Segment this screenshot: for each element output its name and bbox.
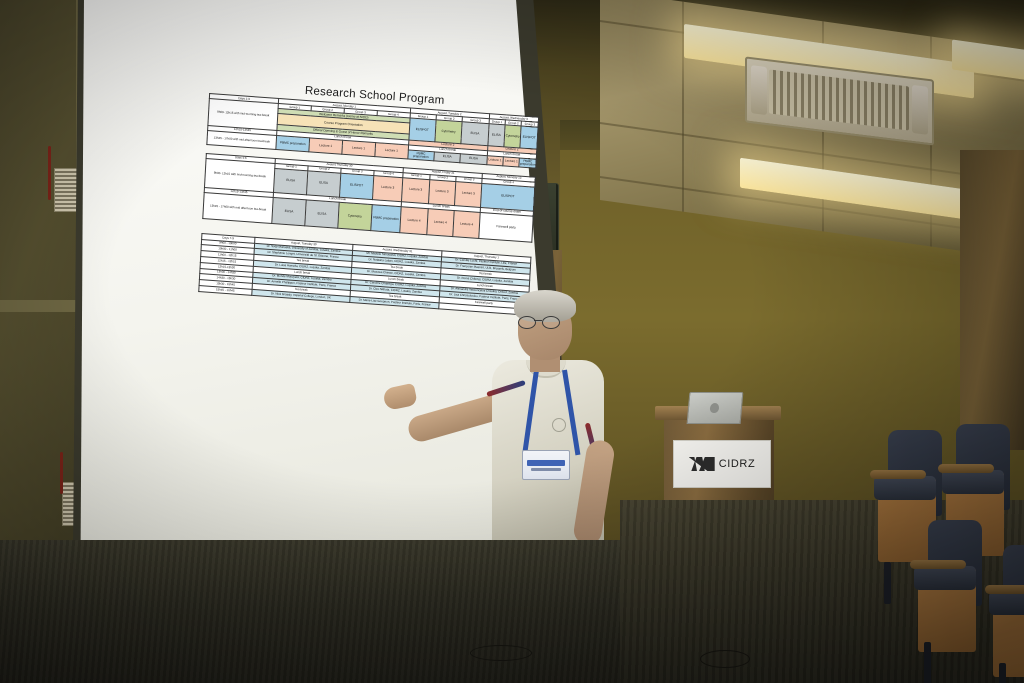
b2-pm-3: Cytometry	[338, 202, 372, 230]
name-badge	[522, 450, 570, 480]
cell-pbmc-2: PBMC preparation	[408, 150, 435, 160]
cell-lec-3: Lecture 1	[375, 142, 409, 158]
macbook-laptop	[687, 392, 744, 424]
apple-logo-icon	[710, 403, 720, 413]
b2-am-6: Lecture 3	[428, 179, 456, 205]
b2-pm-4: PBMC preparation	[371, 204, 402, 232]
b2-am-4: Lecture 3	[372, 175, 403, 201]
schedule-block-days-4-6: Days 4-6 August,Thursday 30 August, Frid…	[202, 153, 536, 243]
b2-am-5: Lecture 3	[402, 177, 430, 203]
shirt-logo-icon	[552, 418, 566, 432]
ac-vent-slats	[769, 69, 909, 130]
b2-am-2: ELISA	[306, 170, 340, 196]
cell-am-d3-3: ELISPOT	[520, 126, 538, 149]
b2-pm-2: ELISA	[305, 200, 339, 228]
glasses-lens-left	[518, 316, 536, 329]
b2-pm-7: Lecture 4	[453, 210, 481, 238]
b2-am-3: ELISPOT	[339, 173, 373, 199]
cell-am-d2-2: Cytometry	[435, 120, 462, 143]
eyeglasses-icon	[518, 316, 562, 327]
cell-lec-4: Lecture 1	[486, 156, 503, 166]
glasses-lens-right	[542, 316, 560, 329]
podium-sign: CIDRZ	[673, 440, 771, 488]
badge-band	[527, 460, 565, 466]
floor-cable-2	[470, 645, 532, 661]
cell-elisa-a: ELISA	[434, 152, 461, 162]
time-label-2-pm: 13h45 - 17h00 with mid afternoon tea-bre…	[203, 192, 274, 223]
cell-am-d3-2: Cytometry	[504, 125, 522, 148]
b2-pm-far: Farewell party	[479, 212, 533, 242]
b2-pm-5: Lecture 4	[400, 207, 428, 235]
glasses-bridge	[534, 320, 542, 321]
cell-lec-5: Lecture 1	[503, 157, 520, 167]
b2-pm-6: Lecture 4	[426, 208, 454, 236]
cell-lec-1: Lecture 1	[309, 138, 343, 154]
cell-lec-2: Lecture 1	[342, 140, 376, 156]
cell-am-d3-1: ELISA	[487, 124, 505, 147]
ac-vent-cap-left	[751, 65, 767, 115]
cell-pbmc-3: PBMC preparation	[519, 158, 536, 168]
badge-line	[531, 468, 561, 471]
conference-room-scene: Research School Program Days 1-3 August,…	[0, 0, 1024, 683]
floor-cable-1	[700, 650, 750, 668]
cell-pbmc-1: PBMC preparation	[276, 135, 310, 151]
b2-pm-1: ELISA	[272, 197, 306, 225]
cidrz-logo-icon	[689, 457, 715, 471]
cell-elisa-b: ELISA	[460, 154, 487, 164]
cell-cyt-3: Cytometry	[536, 159, 537, 167]
ac-vent-cap-right	[912, 85, 928, 135]
b2-am-1: ELISA	[274, 168, 308, 194]
cell-am-d2-1: ELISPOT	[409, 118, 436, 141]
cell-am-d2-3: ELISA	[461, 122, 488, 145]
right-door-panel	[960, 150, 1024, 450]
schedule-table-2: Days 4-6 August,Thursday 30 August, Frid…	[202, 153, 536, 243]
podium-sign-text: CIDRZ	[719, 458, 756, 470]
b2-am-7: Lecture 3	[454, 181, 482, 207]
